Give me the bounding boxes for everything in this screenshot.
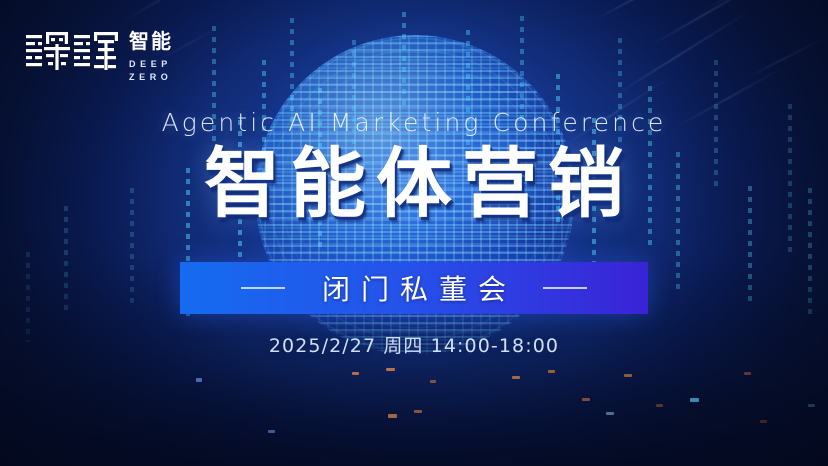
shenyan-logo-mark-icon — [24, 28, 120, 76]
event-eyebrow-title: Agentic AI Marketing Conference — [0, 108, 828, 137]
event-subtitle-text: 闭门私董会 — [311, 268, 517, 308]
ribbon-dash-left — [241, 287, 285, 289]
logo-chinese-name: 智能 — [129, 31, 173, 51]
logo-english-line2: ZERO — [129, 71, 172, 84]
event-main-title: 智能体营销 — [0, 142, 828, 226]
event-datetime: 2025/2/27 周四 14:00-18:00 — [0, 331, 828, 358]
logo-english-name: DEEP ZERO — [129, 58, 172, 84]
logo-english-line1: DEEP — [129, 58, 172, 71]
logo-wordmark: 智能 DEEP ZERO — [129, 28, 173, 84]
conference-poster: 智能 DEEP ZERO Agentic AI Marketing Confer… — [0, 0, 828, 466]
brand-logo: 智能 DEEP ZERO — [24, 28, 173, 84]
ribbon-dash-right — [543, 287, 587, 289]
event-subtitle-ribbon: 闭门私董会 — [180, 262, 648, 314]
